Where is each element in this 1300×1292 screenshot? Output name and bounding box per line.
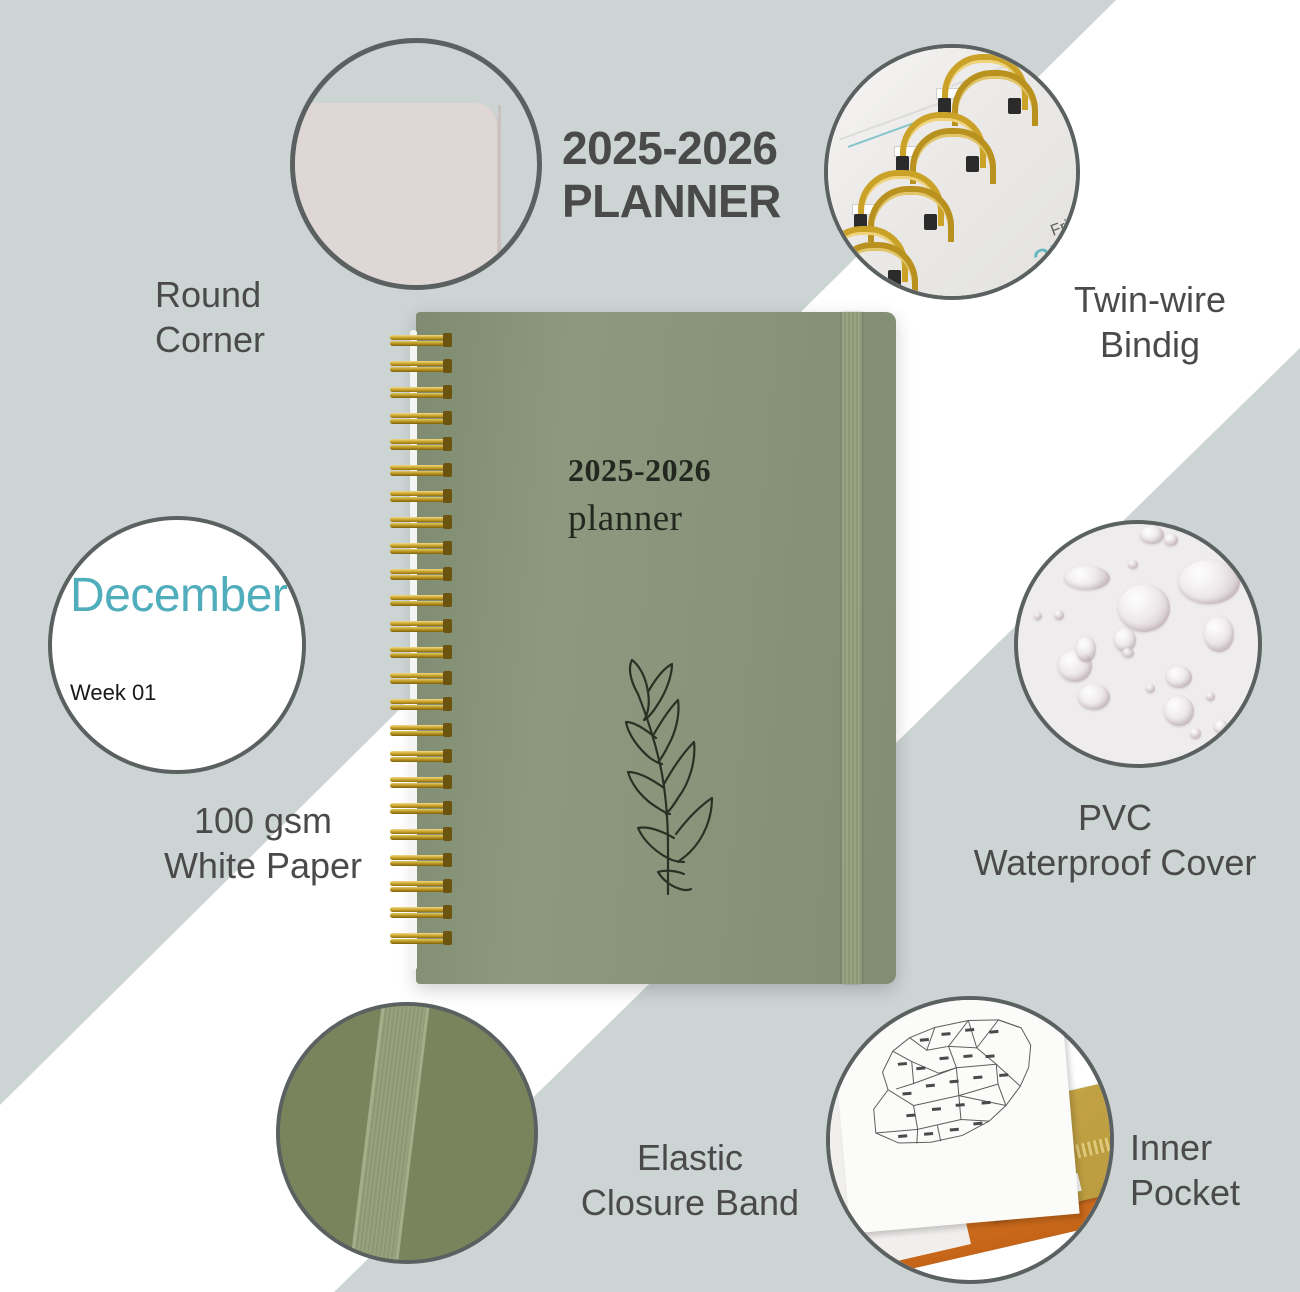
planner-product-image: 2025-2026 planner — [388, 312, 896, 984]
feature-label-twin-wire-line1: Twin-wire — [1040, 277, 1260, 322]
spiral-coil — [388, 384, 450, 400]
feature-label-pvc-line1: PVC — [935, 795, 1295, 840]
feature-label-elastic-line1: Elastic — [545, 1135, 835, 1180]
water-droplet-icon — [1178, 560, 1240, 604]
feature-label-inner-pocket: Inner Pocket — [1130, 1125, 1240, 1216]
water-droplet-icon — [1122, 648, 1134, 658]
water-droplet-icon — [1076, 636, 1096, 662]
water-droplet-icon — [1164, 534, 1178, 546]
cover-title-block: 2025-2026 planner — [568, 452, 828, 540]
feature-label-pvc-line2: Waterproof Cover — [935, 840, 1295, 885]
cover-elastic-closure-band — [842, 312, 862, 984]
spiral-coil — [388, 670, 450, 686]
planner-twin-wire-spiral — [388, 332, 458, 968]
spiral-coil — [388, 566, 450, 582]
water-droplet-icon — [1128, 560, 1138, 569]
feature-label-twin-wire-binding: Twin-wire Bindig — [1040, 277, 1260, 368]
feature-photo-inner-pocket — [826, 996, 1114, 1284]
feature-photo-elastic-closure-band — [276, 1002, 538, 1264]
spiral-coil — [388, 696, 450, 712]
feature-label-twin-wire-line2: Bindig — [1040, 322, 1260, 367]
water-droplet-icon — [1214, 720, 1228, 734]
water-droplet-icon — [1146, 684, 1155, 693]
water-droplet-icon — [1078, 684, 1110, 710]
cover-title-year: 2025-2026 — [568, 452, 828, 489]
spiral-coil — [388, 592, 450, 608]
infographic-canvas: 2025-2026 PLANNER Round Corner — [0, 0, 1300, 1292]
rounded-page-corner-icon — [290, 103, 497, 290]
feature-label-pocket-line1: Inner — [1130, 1125, 1240, 1170]
spiral-coil — [388, 462, 450, 478]
spiral-coil — [388, 774, 450, 790]
water-droplet-icon — [1118, 584, 1170, 632]
spiral-coil — [388, 722, 450, 738]
feature-photo-round-corner — [290, 38, 542, 290]
spiral-coil — [388, 358, 450, 374]
water-droplet-icon — [1190, 728, 1201, 739]
water-droplet-icon — [1206, 692, 1215, 701]
water-droplet-icon — [1054, 610, 1064, 620]
page-title: 2025-2026 PLANNER — [562, 122, 781, 229]
spiral-coil — [388, 410, 450, 426]
spiral-coil — [388, 904, 450, 920]
feature-label-paper-line2: White Paper — [143, 843, 383, 888]
spiral-coil — [388, 436, 450, 452]
feature-label-pocket-line2: Pocket — [1130, 1170, 1240, 1215]
water-droplet-icon — [1034, 612, 1042, 620]
spiral-coil — [388, 514, 450, 530]
feature-label-elastic-closure-band: Elastic Closure Band — [545, 1135, 835, 1226]
feature-label-paper-line1: 100 gsm — [143, 798, 383, 843]
spiral-coil — [388, 540, 450, 556]
feature-label-elastic-line2: Closure Band — [545, 1180, 835, 1225]
spiral-coil — [388, 748, 450, 764]
water-droplet-icon — [1064, 566, 1110, 590]
feature-label-paper-quality: 100 gsm White Paper — [143, 798, 383, 889]
planner-page-month-heading: December — [70, 568, 287, 623]
water-droplet-icon — [1164, 696, 1194, 726]
planner-page-week-label: Week 01 — [70, 680, 156, 706]
cover-title-word: planner — [568, 497, 828, 540]
page-title-year: 2025-2026 — [562, 122, 781, 175]
water-droplet-icon — [1204, 616, 1234, 652]
feature-label-round-corner-line1: Round — [155, 272, 265, 317]
feature-photo-paper-quality: December Week 01 — [48, 516, 306, 774]
spiral-coil — [388, 852, 450, 868]
spiral-coil — [388, 878, 450, 894]
leaf-sprig-icon — [616, 642, 766, 902]
feature-label-round-corner: Round Corner — [155, 272, 265, 363]
feature-photo-twin-wire-binding: Fri 27 — [824, 44, 1080, 300]
usa-map-icon — [847, 998, 1060, 1175]
feature-photo-pvc-waterproof — [1014, 520, 1262, 768]
planner-front-cover: 2025-2026 planner — [416, 312, 896, 984]
spiral-coil — [388, 800, 450, 816]
water-droplet-icon — [1166, 666, 1192, 688]
page-title-word: PLANNER — [562, 175, 781, 228]
spiral-coil — [388, 826, 450, 842]
feature-label-round-corner-line2: Corner — [155, 317, 265, 362]
spiral-coil — [388, 618, 450, 634]
spiral-coil — [388, 332, 450, 348]
water-droplet-icon — [1140, 526, 1164, 544]
spiral-coil — [388, 930, 450, 946]
feature-label-pvc-waterproof: PVC Waterproof Cover — [935, 795, 1295, 886]
spiral-coil — [388, 644, 450, 660]
spiral-coil — [388, 488, 450, 504]
